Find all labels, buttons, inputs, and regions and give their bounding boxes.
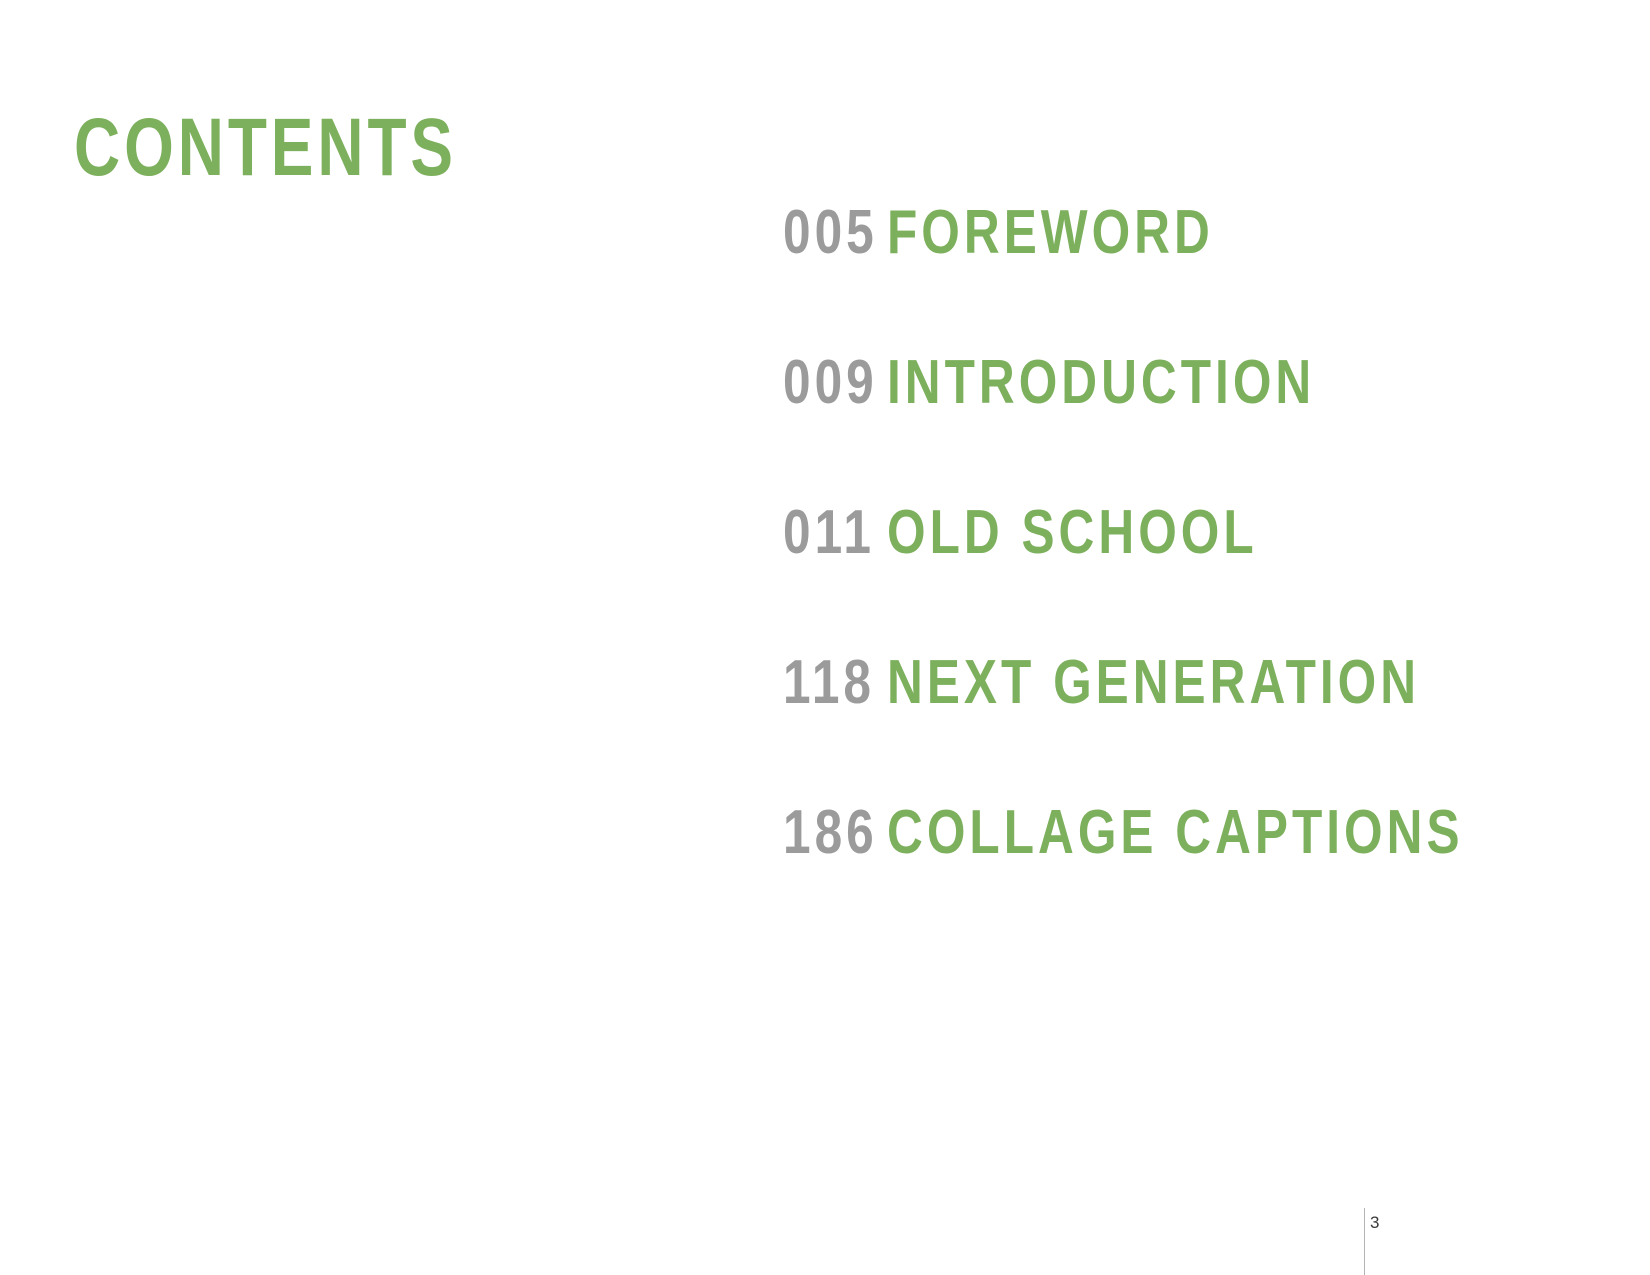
toc-entry-old-school[interactable]: 011OLD SCHOOL	[783, 502, 1543, 652]
toc-entry-label: NEXT GENERATION	[887, 652, 1420, 714]
toc-entry-page-number: 118	[783, 652, 887, 714]
toc-entry-inner: 005FOREWORD	[783, 202, 1214, 264]
toc-entry-page-number: 009	[783, 352, 887, 414]
toc-entry-label: OLD SCHOOL	[887, 502, 1258, 564]
toc-entry-inner: 186COLLAGE CAPTIONS	[783, 802, 1464, 864]
toc-entry-inner: 009INTRODUCTION	[783, 352, 1315, 414]
page-title: CONTENTS	[74, 107, 457, 189]
toc-entry-foreword[interactable]: 005FOREWORD	[783, 202, 1543, 352]
toc-entry-introduction[interactable]: 009INTRODUCTION	[783, 352, 1543, 502]
toc-entry-next-generation[interactable]: 118NEXT GENERATION	[783, 652, 1543, 802]
toc-entry-label: INTRODUCTION	[887, 352, 1315, 414]
toc-entry-label: FOREWORD	[887, 202, 1214, 264]
toc-entry-collage-captions[interactable]: 186COLLAGE CAPTIONS	[783, 802, 1543, 952]
book-page: CONTENTS 005FOREWORD 009INTRODUCTION 011…	[0, 0, 1650, 1275]
toc-entry-page-number: 005	[783, 202, 887, 264]
folio-page-number: 3	[1365, 1208, 1379, 1231]
table-of-contents: 005FOREWORD 009INTRODUCTION 011OLD SCHOO…	[783, 202, 1543, 952]
toc-entry-label: COLLAGE CAPTIONS	[887, 802, 1464, 864]
toc-entry-page-number: 011	[783, 502, 887, 564]
toc-entry-inner: 118NEXT GENERATION	[783, 652, 1420, 714]
toc-entry-inner: 011OLD SCHOOL	[783, 502, 1258, 564]
toc-entry-page-number: 186	[783, 802, 887, 864]
folio: 3	[1364, 1208, 1379, 1275]
